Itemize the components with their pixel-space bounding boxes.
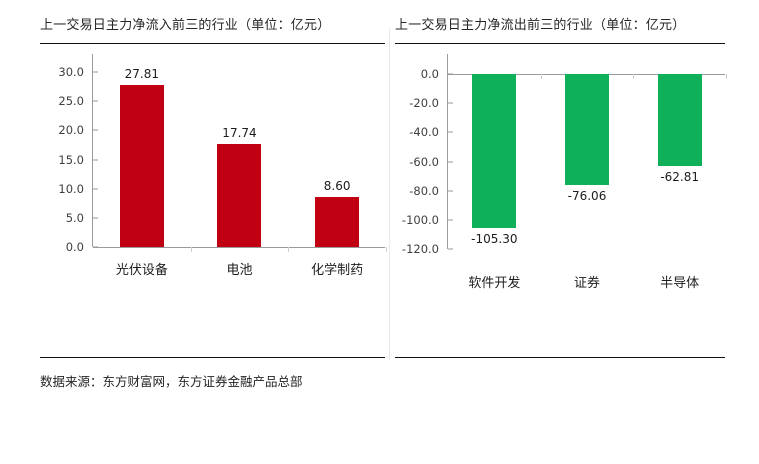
category-label: 证券 — [574, 272, 600, 291]
category-tick — [288, 247, 289, 252]
y-tick-label: 5.0 — [66, 211, 84, 225]
x-axis-line-inflow — [93, 247, 385, 248]
y-tick-mark — [448, 74, 453, 75]
y-tick-mark — [93, 72, 98, 73]
y-tick-mark — [93, 101, 98, 102]
y-tick-label: 20.0 — [58, 123, 84, 137]
y-tick-label: 10.0 — [58, 182, 84, 196]
panel-top-rule-outflow — [395, 43, 725, 44]
category-tick — [386, 247, 387, 252]
panel-top-rule-inflow — [40, 43, 385, 44]
category-label: 半导体 — [660, 272, 699, 291]
y-tick-mark — [93, 188, 98, 189]
y-tick-mark — [448, 249, 453, 250]
bar[interactable] — [565, 74, 609, 185]
bar[interactable] — [472, 74, 516, 228]
bar-group-outflow: -105.30软件开发-76.06证券-62.81半导体 — [448, 54, 725, 249]
bar-item[interactable]: -105.30软件开发 — [448, 54, 541, 249]
y-tick-mark — [448, 103, 453, 104]
y-tick-label: 30.0 — [58, 65, 84, 79]
y-tick-mark — [93, 159, 98, 160]
y-tick-mark — [448, 219, 453, 220]
data-source-note: 数据来源：东方财富网，东方证券金融产品总部 — [40, 371, 385, 390]
y-tick-mark — [448, 132, 453, 133]
plot-area-outflow: -105.30软件开发-76.06证券-62.81半导体 — [447, 54, 725, 249]
chart-net-outflow: 0.0-20.0-40.0-60.0-80.0-100.0-120.0 -105… — [395, 54, 725, 324]
bar-item[interactable]: -62.81半导体 — [633, 54, 726, 249]
y-axis-outflow: 0.0-20.0-40.0-60.0-80.0-100.0-120.0 — [395, 54, 447, 324]
category-tick — [191, 247, 192, 252]
y-tick-mark — [448, 161, 453, 162]
category-tick — [726, 74, 727, 79]
y-tick-label: -100.0 — [402, 213, 439, 227]
y-tick-mark — [93, 247, 98, 248]
bar-group-inflow: 27.81光伏设备17.74电池8.60化学制药 — [93, 54, 385, 247]
y-tick-label: -80.0 — [409, 184, 439, 198]
panel-bottom-rule-inflow — [40, 357, 385, 358]
bar-item[interactable]: -76.06证券 — [541, 54, 634, 249]
y-tick-label: 15.0 — [58, 153, 84, 167]
category-label: 电池 — [226, 259, 252, 278]
y-tick-label: -20.0 — [409, 96, 439, 110]
panel-divider — [389, 28, 390, 360]
panel-bottom-rule-outflow — [395, 357, 725, 358]
category-label: 化学制药 — [311, 259, 363, 278]
y-tick-label: 0.0 — [421, 67, 439, 81]
panel-title-outflow: 上一交易日主力净流出前三的行业（单位：亿元） — [395, 18, 725, 43]
panel-net-outflow: 上一交易日主力净流出前三的行业（单位：亿元） 0.0-20.0-40.0-60.… — [395, 18, 725, 358]
chart-net-inflow: 0.05.010.015.020.025.030.0 27.81光伏设备17.7… — [40, 54, 385, 324]
y-tick-label: 25.0 — [58, 94, 84, 108]
bar-value-label: -62.81 — [660, 170, 699, 184]
report-page: 上一交易日主力净流入前三的行业（单位：亿元） 0.05.010.015.020.… — [0, 0, 759, 464]
y-tick-label: -40.0 — [409, 125, 439, 139]
panel-net-inflow: 上一交易日主力净流入前三的行业（单位：亿元） 0.05.010.015.020.… — [40, 18, 385, 358]
y-axis-inflow: 0.05.010.015.020.025.030.0 — [40, 54, 92, 324]
bar-item[interactable]: 8.60化学制药 — [288, 54, 386, 247]
category-label: 光伏设备 — [116, 259, 168, 278]
plot-area-inflow: 27.81光伏设备17.74电池8.60化学制药 — [92, 54, 385, 247]
y-tick-label: 0.0 — [66, 240, 84, 254]
bar[interactable] — [658, 74, 702, 166]
y-tick-mark — [448, 190, 453, 191]
category-label: 软件开发 — [468, 272, 520, 291]
y-tick-label: -120.0 — [402, 242, 439, 256]
bar-value-label: -76.06 — [568, 189, 607, 203]
bar-item[interactable]: 27.81光伏设备 — [93, 54, 191, 247]
bar-value-label: 27.81 — [125, 67, 159, 81]
bar-item[interactable]: 17.74电池 — [191, 54, 289, 247]
bar-value-label: 17.74 — [222, 126, 256, 140]
bar-value-label: 8.60 — [324, 179, 351, 193]
y-tick-label: -60.0 — [409, 155, 439, 169]
bar-value-label: -105.30 — [471, 232, 517, 246]
bar[interactable] — [217, 144, 261, 247]
panel-title-inflow: 上一交易日主力净流入前三的行业（单位：亿元） — [40, 18, 385, 43]
y-tick-mark — [93, 130, 98, 131]
bar[interactable] — [120, 85, 164, 247]
y-tick-mark — [93, 217, 98, 218]
bar[interactable] — [315, 197, 359, 247]
